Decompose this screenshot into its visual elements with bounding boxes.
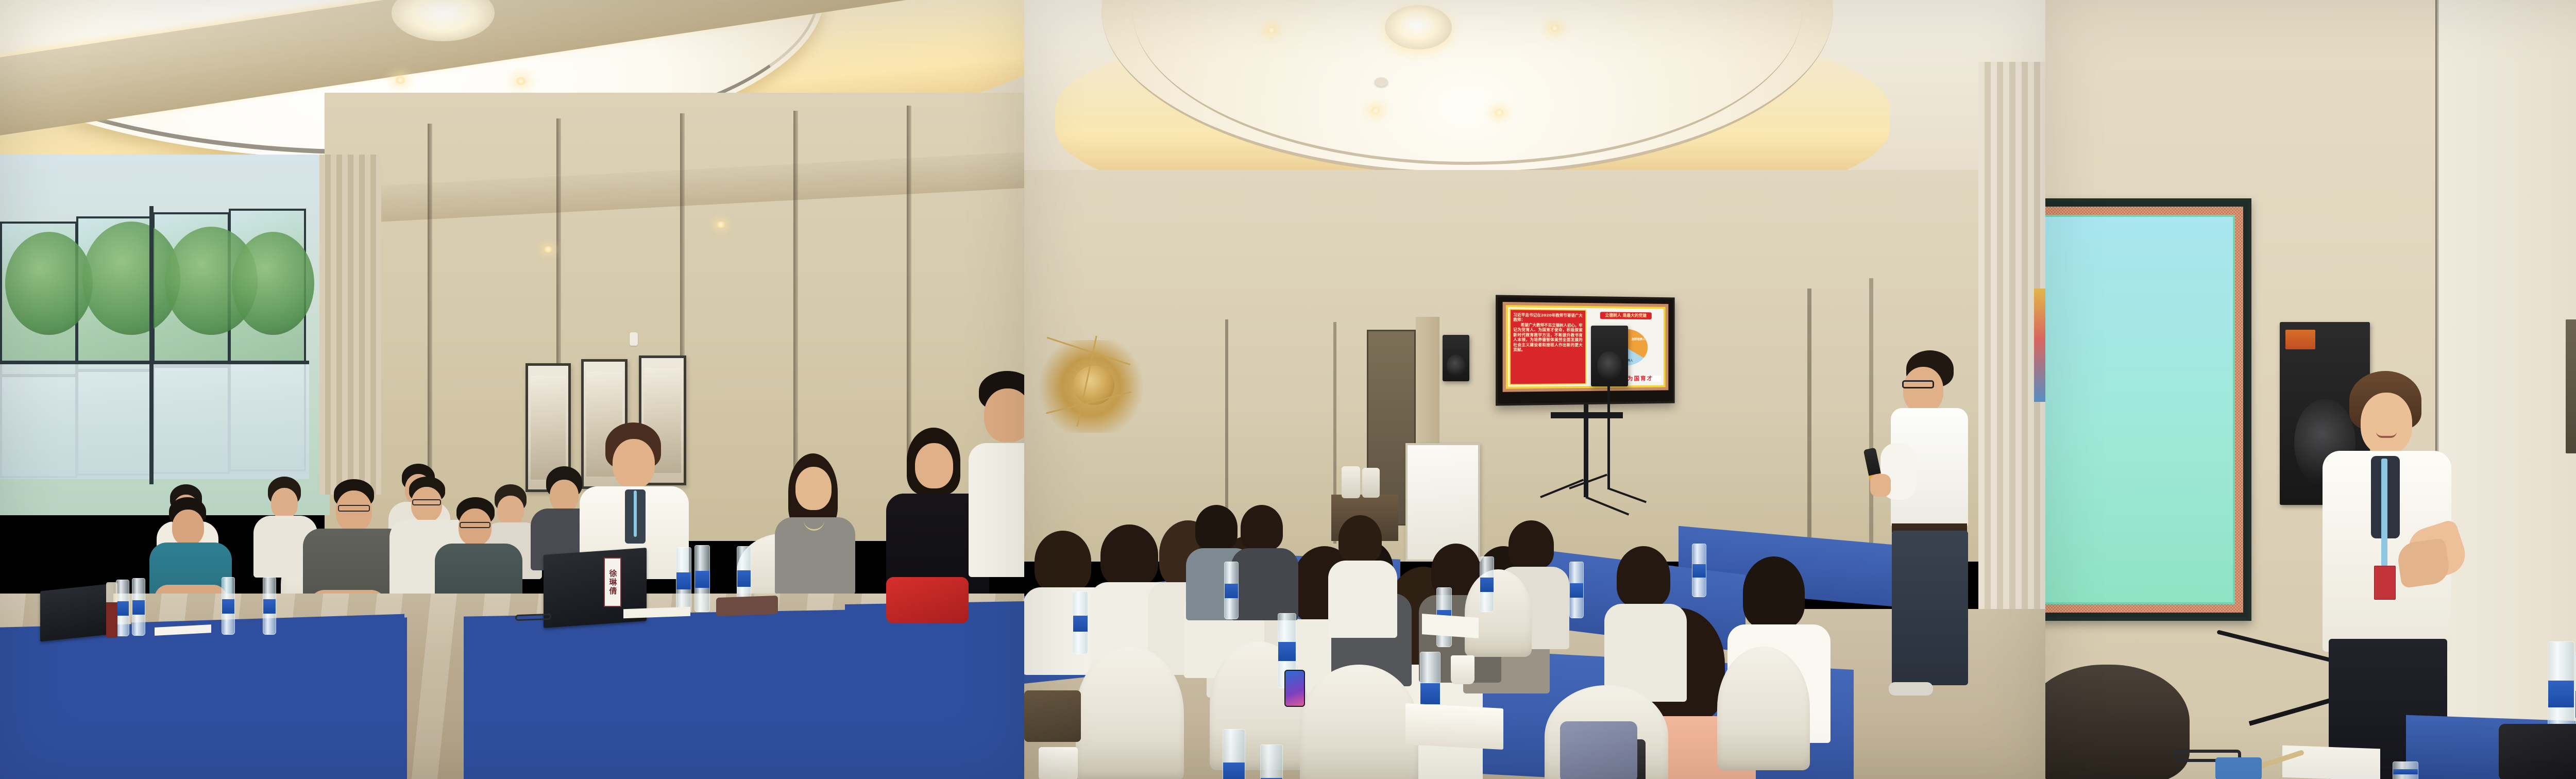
- handbag: [2499, 724, 2576, 779]
- slide-quote-heading: 习近平总书记在2020年教师节寄语广大教师：: [1513, 313, 1582, 323]
- wall-seam: [793, 111, 798, 482]
- jacket-on-chair: [1560, 721, 1637, 779]
- pa-speaker: [1443, 335, 1469, 381]
- smoke-detector: [1375, 77, 1388, 87]
- conference-table-skirt: [845, 625, 1024, 779]
- window-frosted-base: [0, 361, 309, 479]
- head: [613, 439, 655, 488]
- water-bottle: [1224, 562, 1239, 619]
- head: [271, 488, 298, 519]
- slide-quote: 习近平总书记在2020年教师节寄语广大教师： 希望广大教师不忘立德树人初心，牢记…: [1510, 309, 1586, 385]
- id-badge: [2374, 566, 2396, 600]
- thermos: [1362, 468, 1380, 498]
- glasses-icon: [460, 522, 490, 528]
- water-bottle: [263, 577, 276, 635]
- screen-stand-shelf: [1551, 412, 1623, 418]
- wall-sculpture-core: [1073, 366, 1114, 405]
- torso: [969, 443, 1024, 577]
- wall-seam: [1807, 289, 1811, 577]
- chair: [1717, 647, 1810, 770]
- blue-pouch: [2215, 757, 2262, 779]
- ceiling-downlight: [1494, 109, 1504, 116]
- wall-downlight: [544, 246, 553, 252]
- wall-seam: [907, 106, 911, 477]
- wall-seam: [428, 124, 432, 484]
- torso: [1328, 561, 1397, 638]
- smartphone[interactable]: [1284, 670, 1305, 707]
- head: [497, 496, 524, 526]
- speaker-stand-pole: [1607, 386, 1610, 489]
- table-paper: [2282, 746, 2380, 779]
- lanyard: [634, 490, 637, 537]
- tree-foliage: [5, 232, 93, 335]
- eyeglasses: [515, 614, 551, 621]
- tree-foliage: [232, 232, 314, 335]
- head: [172, 510, 204, 546]
- flipchart-board: [1405, 443, 1480, 562]
- collage-panel-1: 徐琳倩: [0, 0, 1024, 779]
- conference-table-skirt: [464, 634, 855, 779]
- head: [915, 443, 953, 488]
- smile: [2376, 432, 2397, 438]
- paper-cup: [1451, 655, 1475, 684]
- head: [2361, 393, 2412, 454]
- wall-sensor: [630, 332, 638, 346]
- hair: [1100, 524, 1158, 586]
- head: [550, 480, 579, 512]
- wall-seam: [1869, 278, 1873, 567]
- water-bottle: [1223, 729, 1245, 779]
- speaker-label: [2285, 330, 2315, 349]
- water-bottle: [1480, 556, 1494, 612]
- hair: [1509, 520, 1554, 569]
- ceiling-downlight: [1266, 27, 1277, 33]
- hair: [1617, 546, 1670, 607]
- hair: [1241, 505, 1283, 550]
- head: [984, 388, 1024, 442]
- chair: [1465, 569, 1532, 657]
- open-notebook: [1422, 614, 1479, 638]
- window-mullion: [0, 361, 309, 364]
- water-bottle: [1260, 744, 1283, 779]
- glasses-icon: [338, 505, 370, 512]
- curtain-color-strip: [2034, 289, 2045, 402]
- conference-table-skirt: [131, 637, 404, 779]
- thermos: [1342, 466, 1360, 498]
- water-bottle: [694, 545, 710, 612]
- glasses-icon: [1902, 380, 1934, 388]
- window-mullion-vertical: [149, 206, 154, 484]
- slide-3: 时: [2045, 215, 2235, 604]
- water-bottle: [676, 547, 691, 613]
- collage-panel-2: 习近平总书记在2020年教师节寄语广大教师： 希望广大教师不忘立德树人初心，牢记…: [1024, 0, 2045, 779]
- laptop[interactable]: [40, 584, 113, 642]
- wall-trim-plate: [2566, 319, 2576, 453]
- shoe: [1889, 682, 1933, 696]
- notebook: [716, 596, 778, 616]
- wall-downlight: [716, 222, 725, 228]
- water-bottle: [1569, 562, 1584, 618]
- hair: [1743, 556, 1805, 629]
- head: [795, 467, 832, 510]
- ceiling-downlight: [515, 77, 527, 85]
- water-bottle: [1073, 591, 1088, 654]
- water-bottle: [2393, 761, 2418, 779]
- hair: [1035, 531, 1091, 592]
- lanyard: [2381, 459, 2387, 567]
- juice-bottle: [106, 582, 117, 638]
- slide-quote-body: 希望广大教师不忘立德树人初心，牢记为党育人、为国育才使命，积极探索新时代教育教学…: [1513, 323, 1582, 352]
- ceiling-downlight: [395, 76, 406, 84]
- ceiling-downlight: [1370, 107, 1381, 114]
- paper-cup: [1039, 747, 1078, 779]
- handbag: [1024, 690, 1081, 742]
- chair: [1076, 647, 1184, 779]
- collage-panel-3: 时: [2045, 0, 2576, 779]
- open-notebook: [1405, 703, 1503, 750]
- trousers: [1892, 531, 1968, 685]
- pie-chart-title: 立德树人 是最大的党建: [1600, 312, 1652, 319]
- window-curtain: [319, 155, 381, 495]
- torso: [1231, 548, 1298, 620]
- red-cloth-bag: [886, 577, 969, 623]
- hand: [1870, 474, 1891, 497]
- head: [1903, 367, 1943, 413]
- presentation-screen-3: 时: [2045, 198, 2251, 621]
- water-bottle: [1692, 544, 1706, 597]
- pa-speaker: [1591, 326, 1628, 386]
- photo-collage: 徐琳倩: [0, 0, 2576, 779]
- hair: [1195, 505, 1238, 550]
- water-bottle: [132, 578, 145, 636]
- water-bottle: [222, 577, 235, 635]
- glasses-icon: [412, 499, 441, 505]
- water-bottle: [116, 580, 129, 636]
- slide-content: 习近平总书记在2020年教师节寄语广大教师： 希望广大教师不忘立德树人初心，牢记…: [1503, 302, 1669, 392]
- dome-center-fixture: [1385, 5, 1452, 49]
- ceiling-downlight: [1550, 25, 1560, 31]
- hair: [1338, 515, 1382, 563]
- presentation-screen: 习近平总书记在2020年教师节寄语广大教师： 希望广大教师不忘立德树人初心，牢记…: [1496, 295, 1675, 405]
- pie-slice-label: 怎样培养人: [1630, 338, 1647, 342]
- name-tag: 徐琳倩: [604, 557, 621, 607]
